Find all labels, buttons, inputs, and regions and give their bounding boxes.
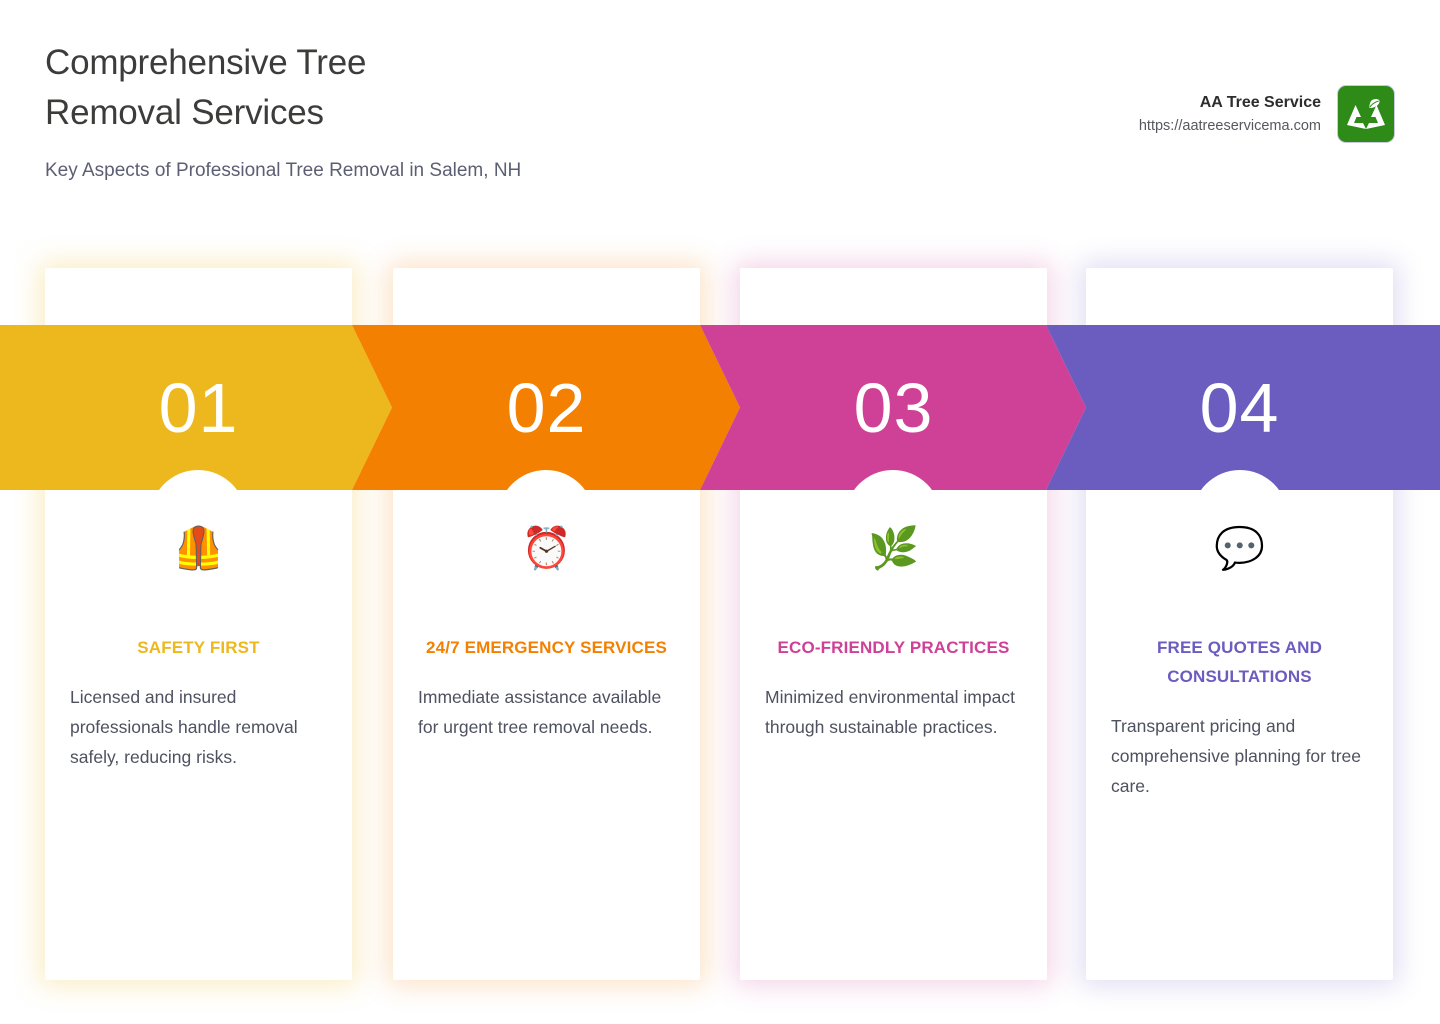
step-heading: ECO-FRIENDLY PRACTICES (764, 633, 1023, 662)
step-card-body: 🌿 ECO-FRIENDLY PRACTICES Minimized envir… (740, 523, 1047, 742)
safety-vest-icon: 🦺 (69, 523, 328, 573)
step-description: Licensed and insured professionals handl… (69, 682, 328, 772)
step-description: Minimized environmental impact through s… (764, 682, 1023, 742)
process-arrow-band: 01 02 03 04 (0, 325, 1440, 490)
arrow-segment-03[interactable] (700, 325, 1086, 490)
step-heading: 24/7 EMERGENCY SERVICES (417, 633, 676, 662)
arrow-band-shapes (0, 325, 1440, 490)
herb-leaf-icon: 🌿 (764, 523, 1023, 573)
arrow-segment-01[interactable] (0, 325, 392, 490)
speech-balloon-icon: 💬 (1110, 523, 1369, 573)
step-heading: SAFETY FIRST (69, 633, 328, 662)
step-card-body: ⏰ 24/7 EMERGENCY SERVICES Immediate assi… (393, 523, 700, 742)
steps-container: 🦺 SAFETY FIRST Licensed and insured prof… (0, 0, 1440, 1024)
arrow-segment-02[interactable] (352, 325, 740, 490)
infographic-page: Comprehensive Tree Removal Services Key … (0, 0, 1440, 1024)
step-card-body: 💬 FREE QUOTES AND CONSULTATIONS Transpar… (1086, 523, 1393, 801)
alarm-clock-icon: ⏰ (417, 523, 676, 573)
arrow-segment-04[interactable] (1046, 325, 1440, 490)
step-description: Transparent pricing and comprehensive pl… (1110, 711, 1369, 801)
step-description: Immediate assistance available for urgen… (417, 682, 676, 742)
step-card-body: 🦺 SAFETY FIRST Licensed and insured prof… (45, 523, 352, 772)
step-heading: FREE QUOTES AND CONSULTATIONS (1110, 633, 1369, 691)
